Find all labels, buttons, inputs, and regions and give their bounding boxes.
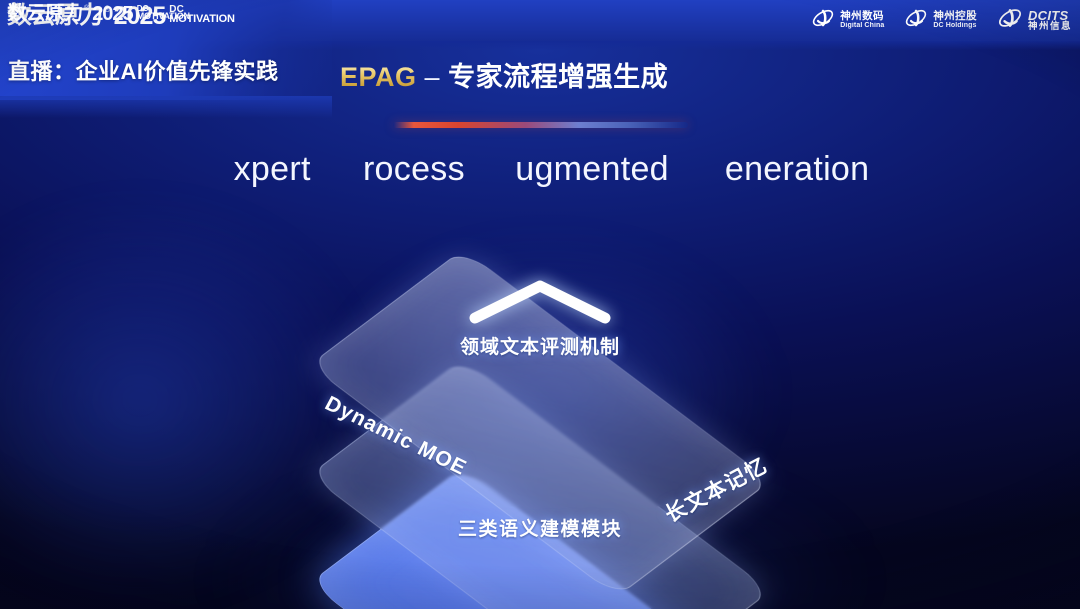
registered-mark-icon: ® [84,5,89,12]
brand-dc-motivation: DC MOTIVATION [137,4,190,21]
brand-motivation-text: MOTIVATION [137,12,190,21]
brand-chinese-name: 数云原力 [7,4,82,23]
slide-canvas: 数云原力 ® 2025 DC MOTIVATION 直播：企业AI价值先锋实践 … [0,0,1080,609]
footer-brand-watermark: 数云原力 ® 2025 DC MOTIVATION [8,4,1070,603]
brand-year: 2025 [92,4,133,24]
